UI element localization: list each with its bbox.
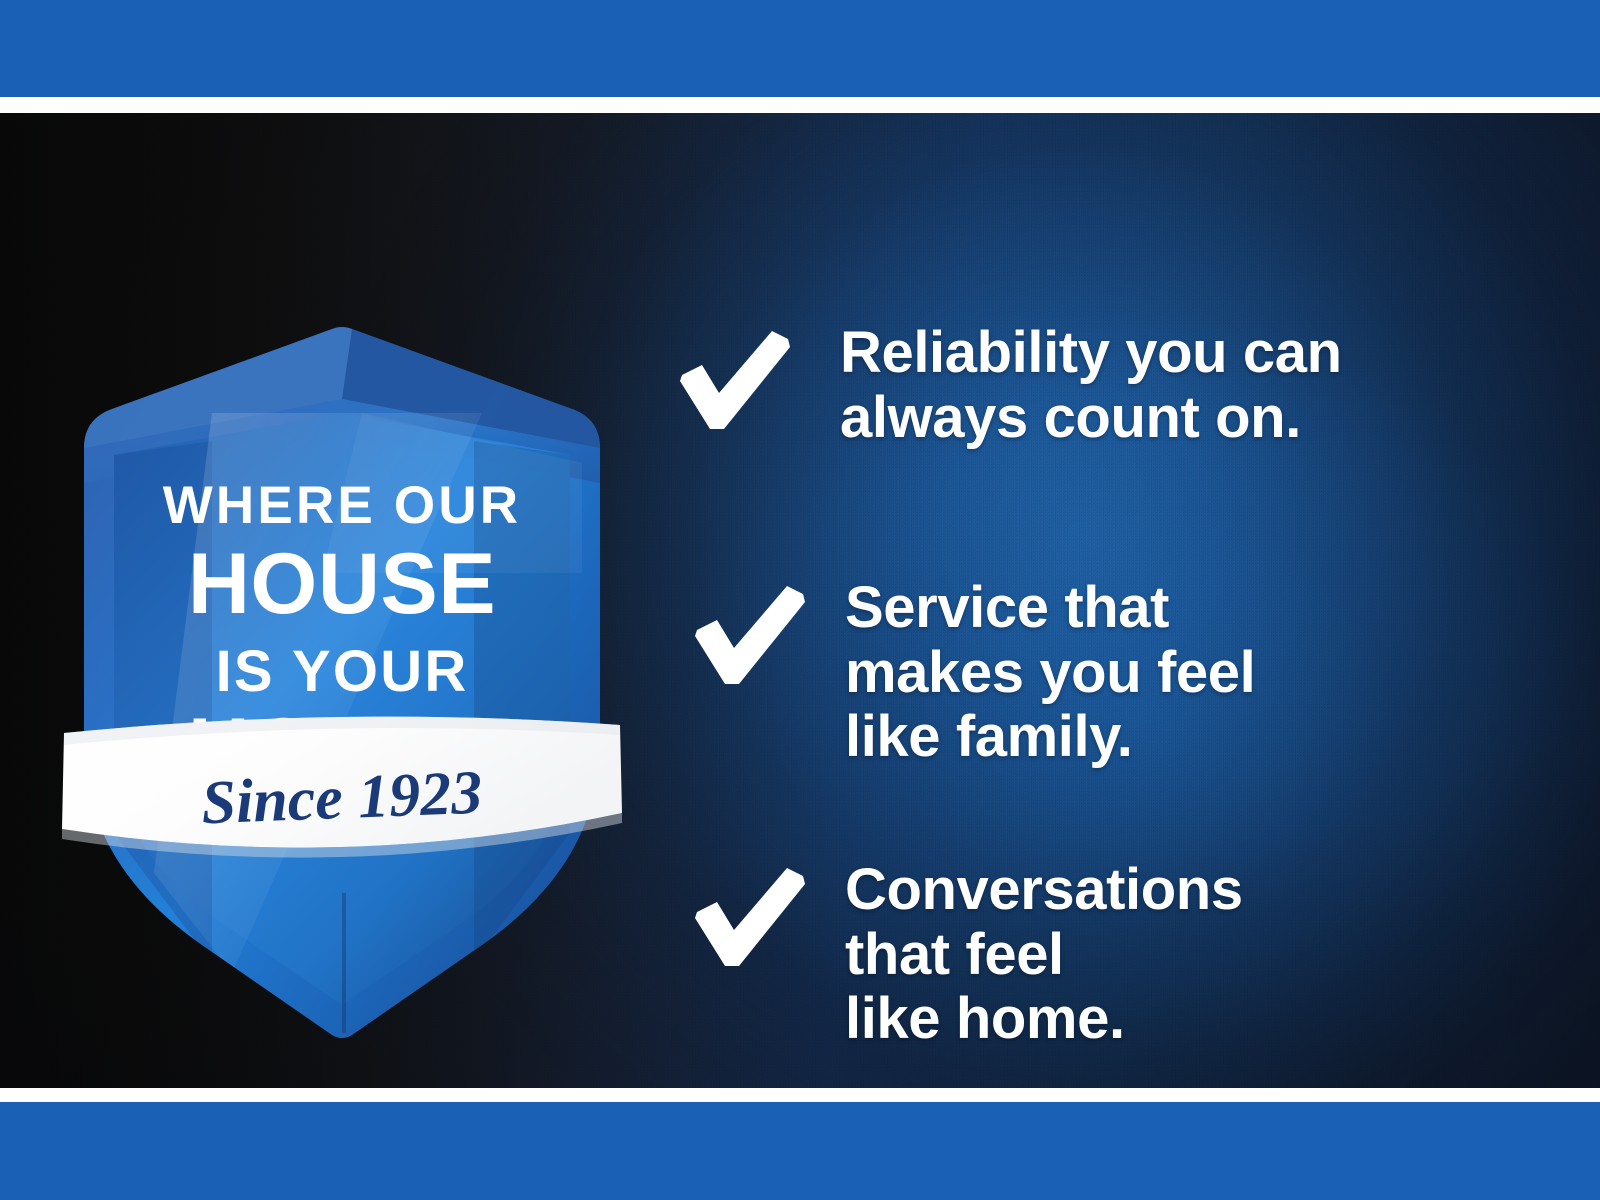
shield-line-3: IS YOUR [216, 639, 469, 704]
shield-banner-text: Since 1923 [200, 759, 483, 838]
checkmark-icon [687, 862, 807, 974]
poster-stage: WHERE OUR HOUSE IS YOUR HOUSE Since 1923 [0, 113, 1600, 1088]
benefit-text: Conversations that feel like home. [845, 858, 1243, 1052]
promo-poster: WHERE OUR HOUSE IS YOUR HOUSE Since 1923 [0, 0, 1600, 1200]
shield-emblem: WHERE OUR HOUSE IS YOUR HOUSE Since 1923 [62, 273, 622, 973]
shield-banner: Since 1923 [62, 713, 622, 858]
benefits-list: Reliability you can always count on. Ser… [672, 226, 1532, 1088]
benefit-item: Service that makes you feel like family. [687, 574, 1255, 770]
shield-line-1: WHERE OUR [163, 476, 522, 535]
benefit-text: Reliability you can always count on. [840, 321, 1342, 450]
top-brand-bar [0, 0, 1600, 97]
shield-line-2: HOUSE [188, 536, 496, 632]
checkmark-icon [672, 325, 792, 437]
benefit-item: Conversations that feel like home. [687, 856, 1243, 1052]
checkmark-icon [687, 580, 807, 692]
benefit-item: Reliability you can always count on. [672, 319, 1342, 450]
benefit-text: Service that makes you feel like family. [845, 576, 1255, 770]
bottom-brand-bar [0, 1102, 1600, 1200]
